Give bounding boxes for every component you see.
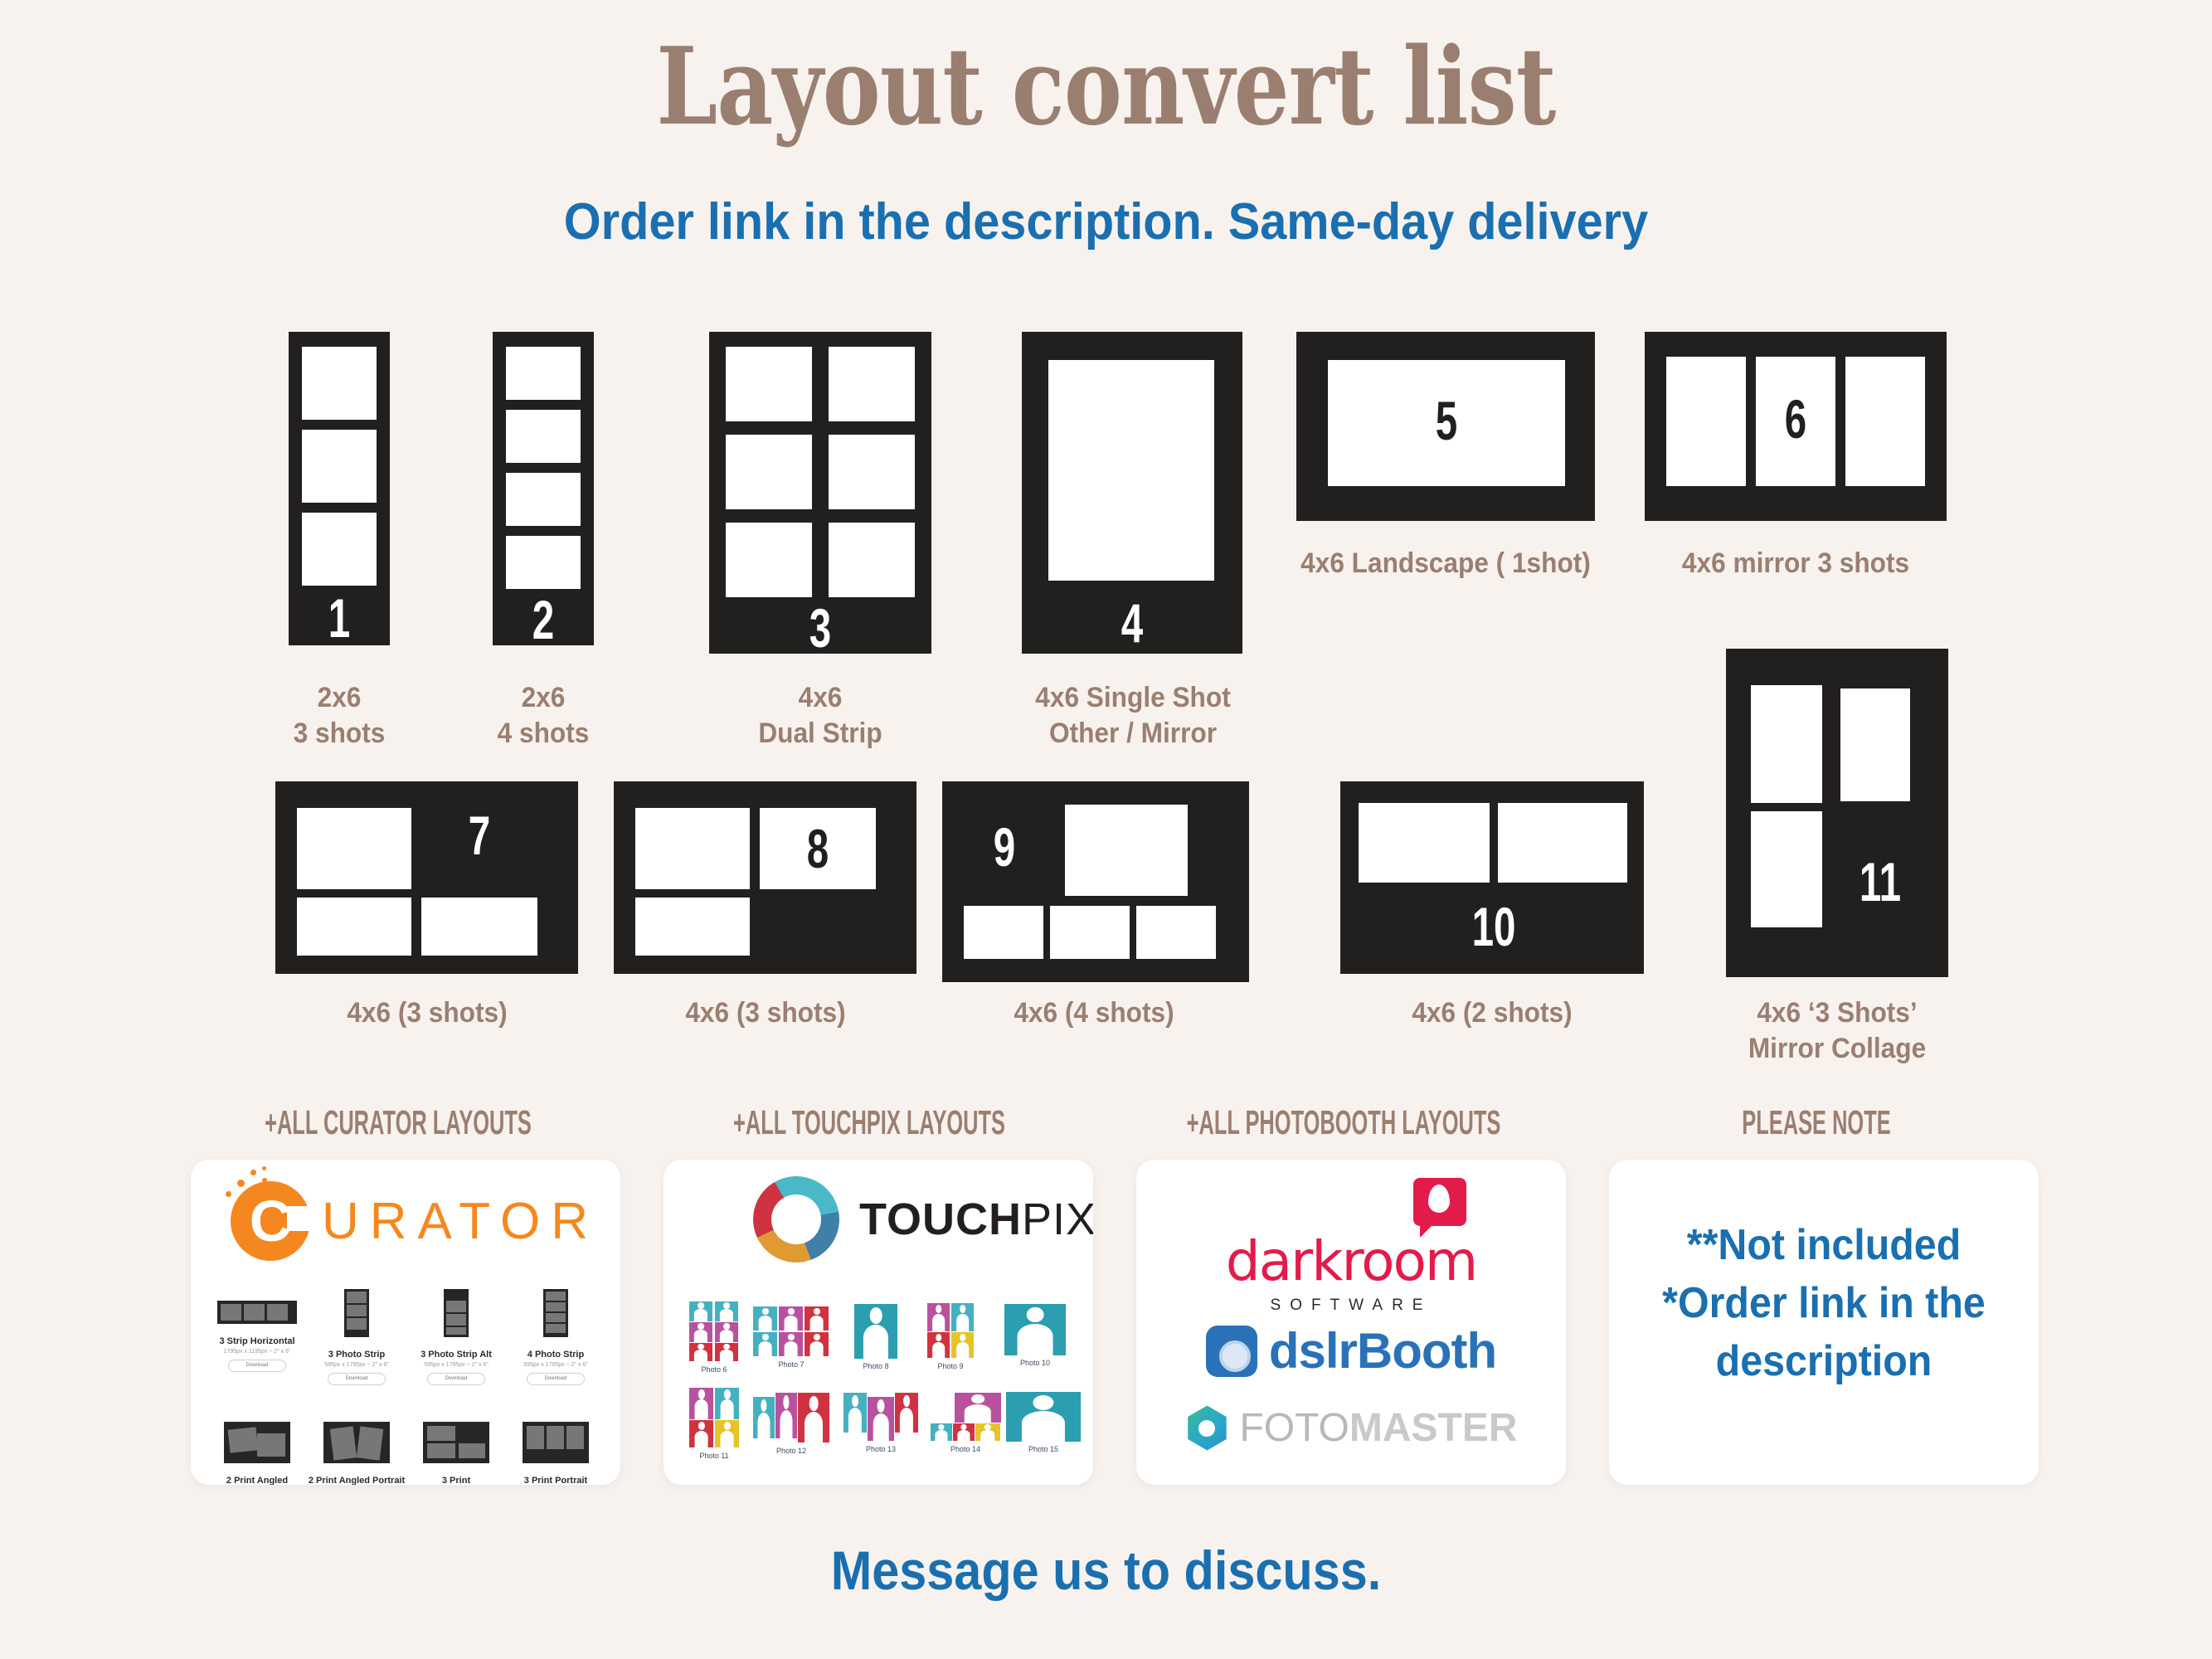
touchpix-item[interactable]: Photo 10	[995, 1304, 1075, 1367]
layout-caption-11: 4x6 ‘3 Shots’ Mirror Collage	[1699, 995, 1976, 1067]
photo-cell	[1751, 811, 1822, 927]
curator-mini-layout	[224, 1422, 290, 1463]
touchpix-item-label: Photo 15	[1004, 1445, 1083, 1453]
photo-cell	[421, 898, 537, 956]
touchpix-item[interactable]: Photo 7	[750, 1306, 833, 1369]
touchpix-logo: TOUCHPIX	[753, 1176, 1093, 1262]
layout-caption-9: 4x6 (4 shots)	[936, 995, 1252, 1031]
photo-cell	[1751, 685, 1822, 803]
layout-caption-1: 2x6 3 shots	[246, 680, 432, 752]
photo-cell	[726, 347, 812, 421]
layout-caption-5: 4x6 Landscape ( 1shot)	[1280, 546, 1612, 581]
touchpix-card[interactable]: TOUCHPIX Photo 6	[664, 1160, 1093, 1485]
fotomaster-light: FOTO	[1239, 1406, 1349, 1450]
touchpix-word-light: PIX	[1022, 1194, 1093, 1244]
photo-cell	[1048, 360, 1214, 581]
page-title: Layout convert list	[199, 32, 2013, 143]
darkroom-subtitle: SOFTWARE	[1136, 1297, 1566, 1315]
note-text: **Not included *Order link in the descri…	[1624, 1216, 2024, 1391]
layout-caption-3: 4x6 Dual Strip	[727, 680, 913, 752]
camera-icon	[1206, 1326, 1257, 1377]
touchpix-thumb	[752, 1306, 830, 1357]
touchpix-item-label: Photo 8	[841, 1362, 911, 1370]
touchpix-thumb	[688, 1387, 740, 1448]
curator-download-button[interactable]: Download	[527, 1373, 585, 1385]
fotomaster-bold: MASTER	[1349, 1406, 1518, 1450]
layout-frame-8[interactable]: 8	[614, 781, 916, 974]
photobooth-card[interactable]: darkroom SOFTWARE dslrBooth FOTOMASTER	[1136, 1160, 1566, 1485]
section-heading-curator: +ALL CURATOR LAYOUTS	[202, 1103, 593, 1142]
note-line-1: **Not included	[1624, 1216, 2024, 1274]
curator-item[interactable]: 3 Photo Strip Alt 595px x 1795px ~ 2" x …	[406, 1289, 506, 1385]
photo-cell	[506, 473, 581, 526]
layout-frame-10[interactable]: 10	[1340, 781, 1644, 974]
photo-cell	[506, 410, 581, 463]
layout-caption-6: 4x6 mirror 3 shots	[1630, 546, 1962, 581]
curator-card[interactable]: C URATOR 3 Strip Horizontal 1795px x 119…	[191, 1160, 620, 1485]
curator-item-name: 2 Print Angled Portrait	[307, 1476, 406, 1485]
dslrbooth-name: dslrBooth	[1269, 1322, 1496, 1379]
curator-item-dims: 595px x 1795px ~ 2" x 6"	[506, 1362, 605, 1368]
layout-number-3: 3	[741, 601, 901, 655]
poster-canvas: Layout convert list Order link in the de…	[0, 0, 2212, 1659]
curator-item-dims: 595px x 1795px ~ 2" x 6"	[307, 1362, 406, 1368]
photo-cell	[964, 906, 1043, 959]
curator-logo-word: URATOR	[322, 1192, 599, 1251]
curator-item[interactable]: 2 Print Angled 1795px x 1195px ~ 6" x 4"…	[207, 1422, 307, 1485]
photo-cell	[1666, 357, 1746, 486]
touchpix-logo-word: TOUCHPIX	[859, 1194, 1093, 1245]
curator-mini-layout	[543, 1289, 568, 1337]
touchpix-item-label: Photo 14	[927, 1445, 1004, 1453]
layout-number-9: 9	[971, 820, 1037, 874]
layout-number-8: 8	[776, 821, 860, 876]
fotomaster-logo: FOTOMASTER	[1136, 1397, 1566, 1451]
layout-number-6: 6	[1767, 392, 1824, 446]
layout-frame-9[interactable]: 9	[942, 781, 1249, 982]
curator-mini-layout	[423, 1422, 489, 1463]
darkroom-name: darkroom	[1136, 1229, 1566, 1293]
touchpix-thumb	[688, 1301, 740, 1362]
curator-item-name: 3 Strip Horizontal	[207, 1336, 307, 1346]
curator-download-button[interactable]: Download	[228, 1360, 286, 1372]
photo-cell	[1498, 803, 1627, 883]
layout-frame-5[interactable]: 5	[1296, 332, 1595, 521]
footer-cta: Message us to discuss.	[110, 1539, 2101, 1602]
curator-mini-layout	[523, 1422, 589, 1463]
curator-mini-layout	[217, 1301, 297, 1324]
photo-cell	[1359, 803, 1490, 883]
touchpix-thumb	[1004, 1304, 1066, 1355]
layout-caption-8: 4x6 (3 shots)	[607, 995, 923, 1031]
photo-cell	[1136, 906, 1216, 959]
touchpix-item-label: Photo 11	[682, 1452, 746, 1460]
layout-frame-7[interactable]: 7	[275, 781, 578, 974]
please-note-card[interactable]: **Not included *Order link in the descri…	[1609, 1160, 2039, 1485]
section-heading-please-note: PLEASE NOTE	[1621, 1103, 2011, 1142]
touchpix-thumb	[926, 1302, 975, 1359]
photo-cell	[635, 898, 750, 956]
curator-logo-mark: C	[231, 1181, 310, 1261]
touchpix-item[interactable]: Photo 15	[1004, 1392, 1083, 1453]
note-line-2: *Order link in the	[1624, 1274, 2024, 1332]
touchpix-item-label: Photo 7	[750, 1360, 833, 1369]
layout-number-11: 11	[1851, 854, 1908, 909]
photo-cell	[635, 808, 750, 889]
curator-logo: C URATOR	[231, 1181, 599, 1261]
curator-item-name: 3 Print	[406, 1476, 506, 1485]
touchpix-item-label: Photo 12	[750, 1447, 833, 1455]
layout-frame-2[interactable]: 2	[493, 332, 594, 645]
curator-item-name: 3 Photo Strip Alt	[406, 1350, 506, 1360]
section-heading-touchpix: +ALL TOUCHPIX LAYOUTS	[673, 1103, 1064, 1142]
curator-item[interactable]: 3 Strip Horizontal 1795px x 1195px ~ 2" …	[207, 1289, 307, 1372]
touchpix-item-label: Photo 6	[682, 1365, 746, 1374]
touchpix-item[interactable]: Photo 6	[682, 1301, 746, 1374]
curator-mini-layout	[344, 1289, 369, 1337]
touchpix-item[interactable]: Photo 11	[682, 1387, 746, 1460]
photo-cell	[1050, 906, 1130, 959]
layout-number-1: 1	[303, 591, 376, 645]
note-line-3: description	[1624, 1332, 2024, 1390]
dslrbooth-logo: dslrBooth	[1136, 1322, 1566, 1379]
photo-cell	[297, 898, 411, 956]
touchpix-thumb	[843, 1392, 919, 1442]
touchpix-item[interactable]: Photo 14	[927, 1392, 1004, 1453]
photo-cell	[1065, 805, 1188, 896]
touchpix-word-bold: TOUCH	[859, 1194, 1022, 1244]
curator-item-dims: 1795px x 1195px ~ 2" x 6"	[207, 1349, 307, 1355]
fotomaster-name: FOTOMASTER	[1239, 1405, 1517, 1451]
touchpix-thumb	[1006, 1392, 1081, 1442]
layout-caption-4: 4x6 Single Shot Other / Mirror	[1018, 680, 1247, 752]
touchpix-item[interactable]: Photo 8	[841, 1304, 911, 1370]
photo-cell	[297, 808, 411, 889]
touchpix-item-label: Photo 9	[917, 1362, 984, 1370]
curator-item-name: 2 Print Angled	[207, 1476, 307, 1485]
curator-item[interactable]: 3 Photo Strip 595px x 1795px ~ 2" x 6" D…	[307, 1289, 406, 1385]
darkroom-bulb-icon	[1428, 1185, 1450, 1213]
curator-thumbnail-grid: 3 Strip Horizontal 1795px x 1195px ~ 2" …	[191, 1284, 620, 1485]
photo-cell	[302, 513, 377, 586]
curator-item[interactable]: 4 Photo Strip 595px x 1795px ~ 2" x 6" D…	[506, 1289, 605, 1385]
touchpix-ring-icon	[753, 1176, 839, 1262]
touchpix-item[interactable]: Photo 13	[839, 1392, 922, 1453]
touchpix-item[interactable]: Photo 12	[750, 1392, 833, 1455]
layout-number-5: 5	[1361, 393, 1532, 448]
curator-item-name: 3 Photo Strip	[307, 1350, 406, 1360]
layout-frame-4[interactable]: 4	[1022, 332, 1242, 654]
layout-number-4: 4	[1053, 596, 1212, 650]
photo-cell	[829, 435, 915, 509]
aperture-icon	[1184, 1406, 1229, 1451]
layout-frame-11[interactable]: 11	[1726, 649, 1948, 977]
curator-item-name: 4 Photo Strip	[506, 1350, 605, 1360]
touchpix-thumb	[930, 1392, 1001, 1442]
touchpix-item-label: Photo 13	[839, 1445, 922, 1453]
page-subtitle: Order link in the description. Same-day …	[77, 192, 2134, 251]
photo-cell	[829, 347, 915, 421]
curator-item[interactable]: 3 Print 1795px x 1195px ~ 6" x 4" Downlo…	[406, 1422, 506, 1485]
photo-cell	[1845, 357, 1925, 486]
curator-mini-layout	[444, 1289, 469, 1337]
section-heading-photobooth: +ALL PHOTOBOOTH LAYOUTS	[1148, 1103, 1539, 1142]
photo-cell	[506, 347, 581, 400]
layout-frame-3[interactable]: 3	[709, 332, 931, 654]
layout-number-7: 7	[438, 808, 522, 863]
layout-caption-7: 4x6 (3 shots)	[269, 995, 585, 1031]
photo-cell	[726, 523, 812, 597]
layout-caption-10: 4x6 (2 shots)	[1334, 995, 1650, 1031]
photo-cell	[302, 430, 377, 503]
curator-mini-layout	[323, 1422, 390, 1463]
curator-download-button[interactable]: Download	[328, 1373, 386, 1385]
photo-cell	[302, 347, 377, 420]
photo-cell	[506, 536, 581, 589]
touchpix-item[interactable]: Photo 9	[917, 1302, 984, 1370]
photo-cell	[829, 523, 915, 597]
layout-number-2: 2	[507, 592, 580, 647]
touchpix-item-label: Photo 10	[995, 1359, 1075, 1367]
photo-cell	[1840, 688, 1910, 801]
layout-caption-2: 2x6 4 shots	[450, 680, 636, 752]
photo-cell	[726, 435, 812, 509]
curator-item[interactable]: 3 Print Portrait 1195px x 1795px ~ 4" x …	[506, 1422, 605, 1485]
touchpix-thumb	[854, 1304, 897, 1359]
curator-download-button[interactable]: Download	[427, 1373, 485, 1385]
layout-frame-6[interactable]: 6	[1645, 332, 1947, 521]
darkroom-logo: darkroom SOFTWARE	[1136, 1229, 1566, 1315]
layout-frame-1[interactable]: 1	[289, 332, 390, 645]
darkroom-bubble-icon	[1413, 1178, 1466, 1226]
curator-item[interactable]: 2 Print Angled Portrait 1195px x 1795px …	[307, 1422, 406, 1485]
curator-item-dims: 595px x 1795px ~ 2" x 6"	[406, 1362, 506, 1368]
touchpix-thumb	[752, 1392, 830, 1443]
curator-item-name: 3 Print Portrait	[506, 1476, 605, 1485]
layout-number-10: 10	[1443, 899, 1544, 954]
